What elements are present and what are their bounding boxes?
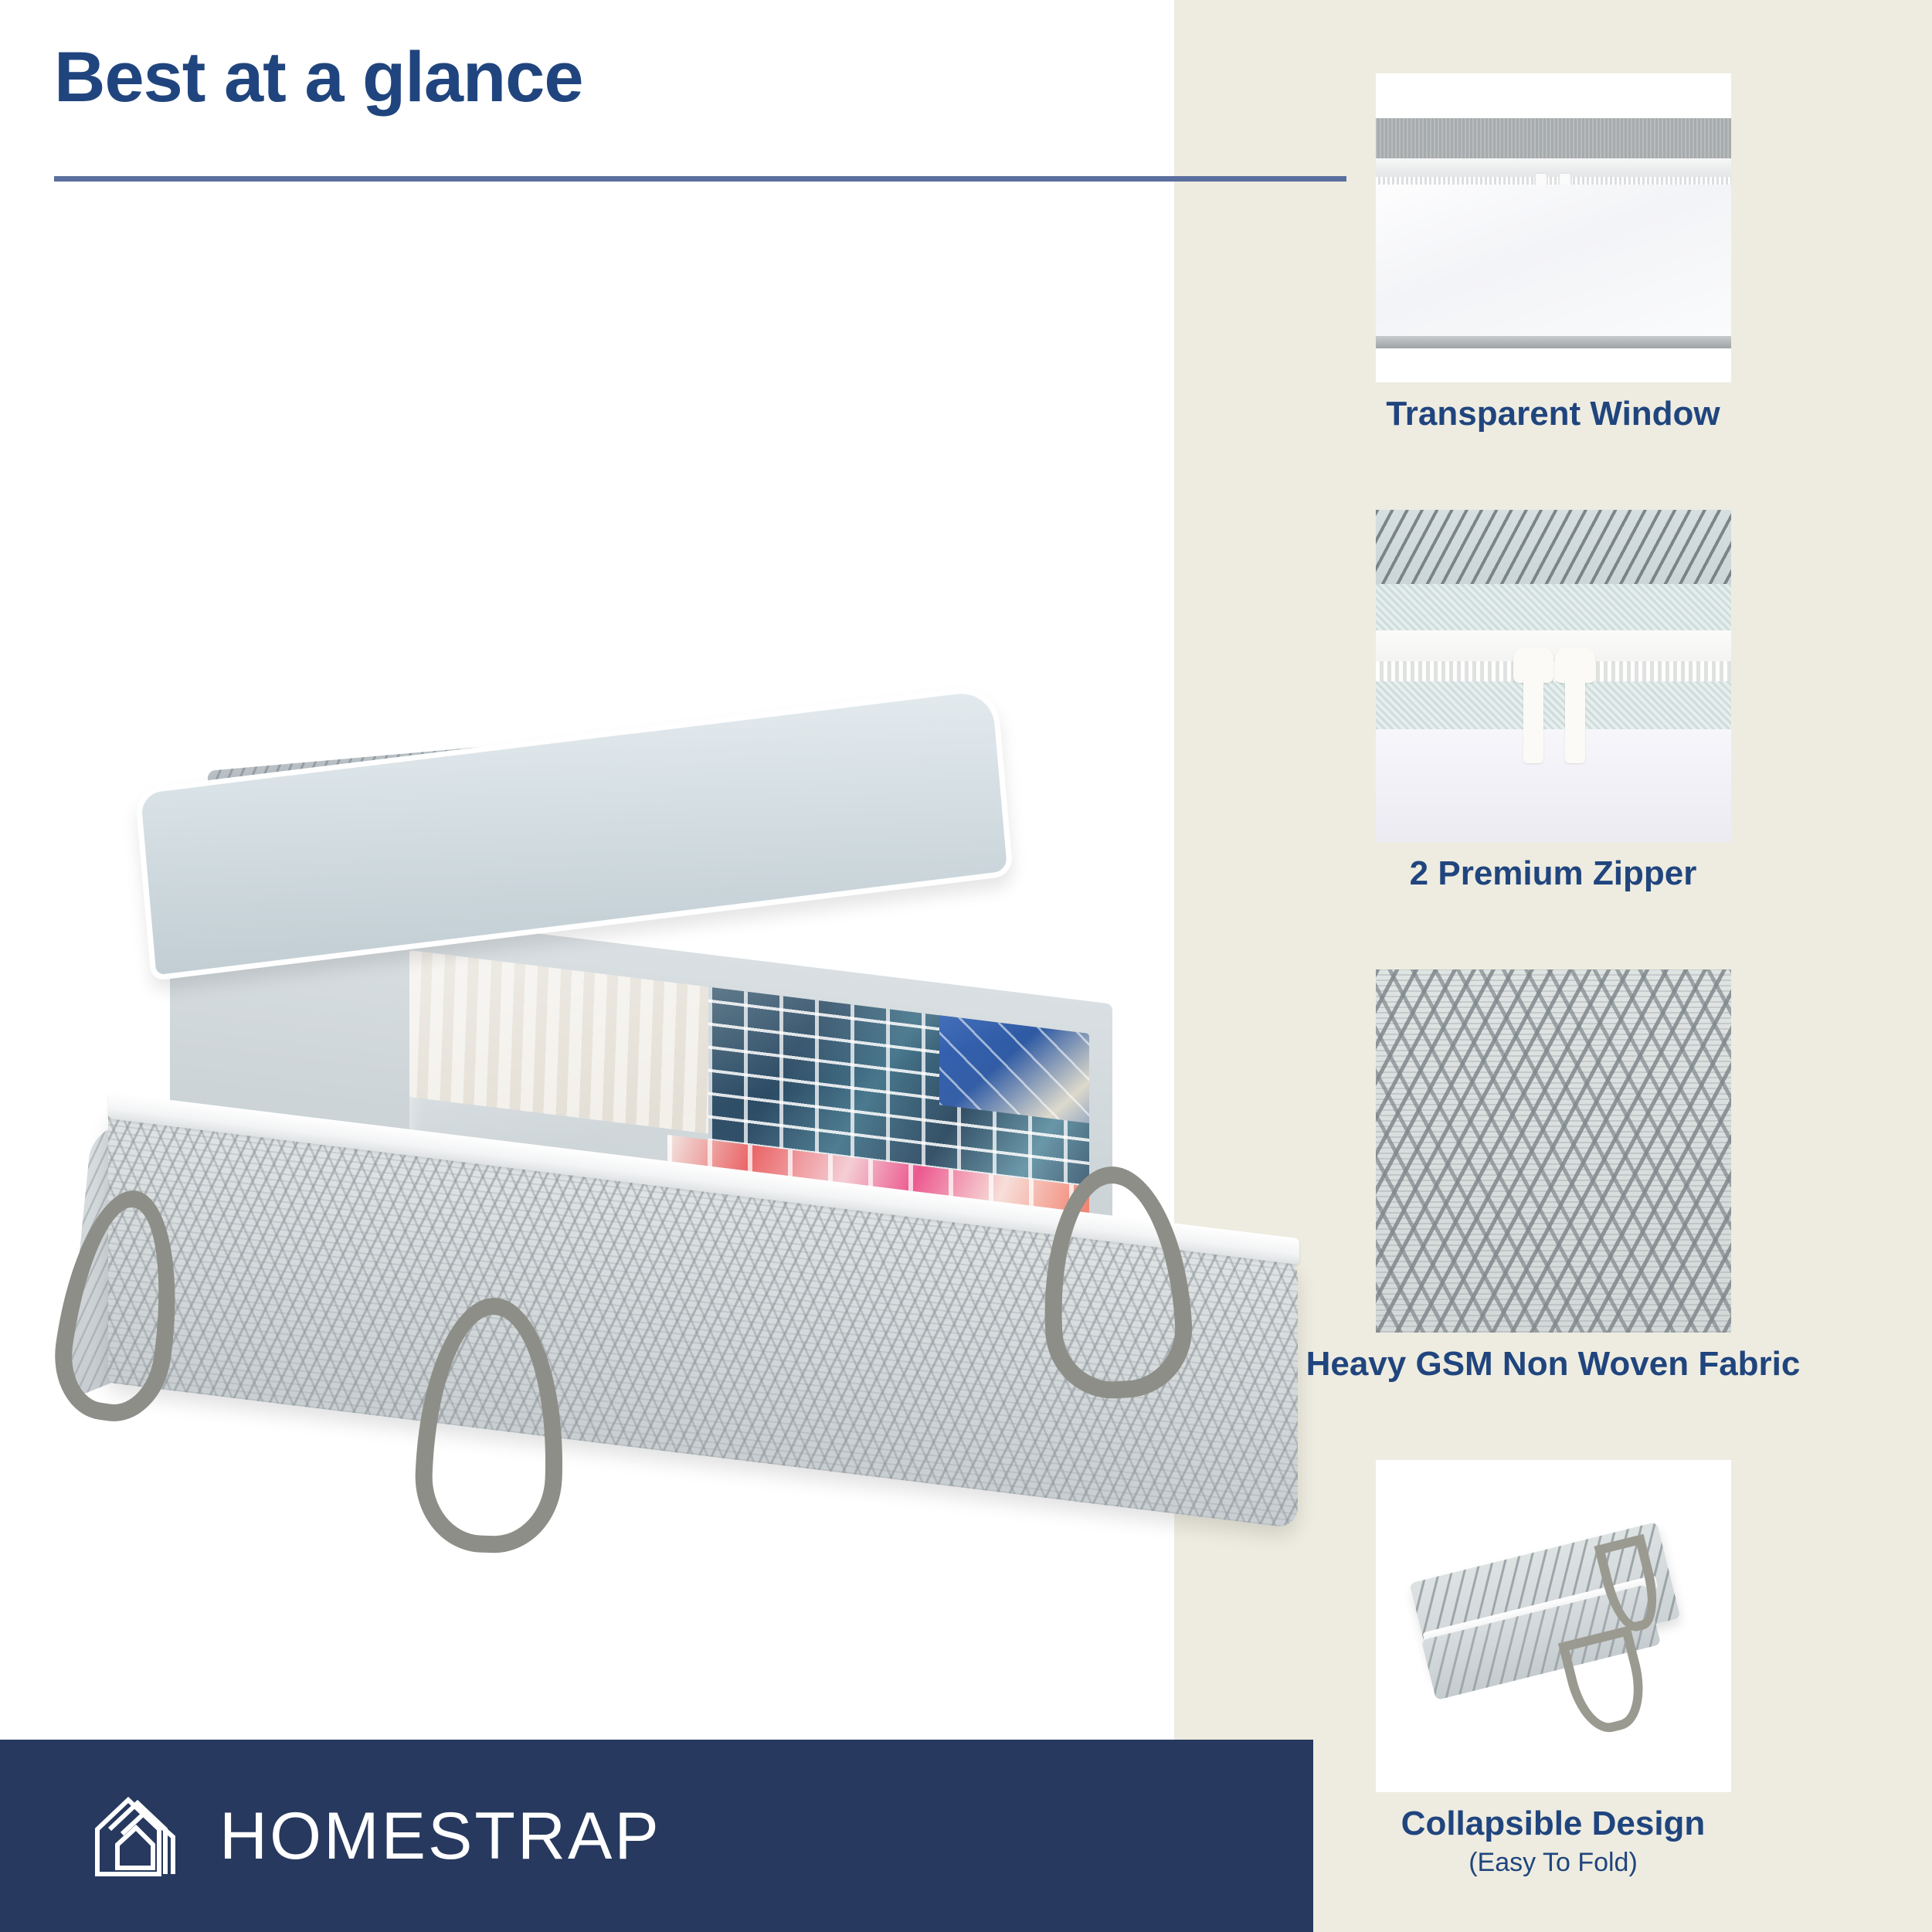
title-underline-rule (54, 176, 1346, 182)
bag-open-lid-flap (134, 684, 1014, 981)
feature-label: Transparent Window (1174, 395, 1932, 433)
zipper-teeth (1376, 661, 1731, 681)
feature-label: Collapsible Design (1174, 1805, 1932, 1843)
premium-zipper-thumbnail (1376, 510, 1731, 842)
feature-item-non-woven-fabric[interactable]: Heavy GSM Non Woven Fabric (1174, 969, 1932, 1384)
zipper-mesh-band-lower (1376, 681, 1731, 729)
collapsible-design-thumbnail (1376, 1460, 1731, 1792)
window-zipper-teeth (1376, 177, 1731, 185)
feature-item-transparent-window[interactable]: Transparent Window (1174, 73, 1932, 433)
infographic-page: Best at a glance (0, 0, 1932, 1932)
homestrap-house-logo-icon (93, 1794, 185, 1879)
window-zipper-tape (1376, 158, 1731, 177)
hero-stage (0, 641, 1360, 1645)
page-title: Best at a glance (54, 39, 1329, 117)
transparent-window-thumbnail (1376, 73, 1731, 382)
features-sidebar: Transparent Window 2 Premium Zipper (1174, 0, 1932, 1932)
window-clear-pane (1376, 185, 1731, 336)
title-block: Best at a glance (54, 39, 1329, 117)
zipper-fabric-pattern-band (1376, 510, 1731, 584)
zipper-pull-tab-right-icon (1565, 677, 1585, 763)
feature-label: Heavy GSM Non Woven Fabric (1174, 1345, 1932, 1384)
footer-brand-bar: HOMESTRAP (0, 1740, 1313, 1932)
zipper-white-panel (1376, 729, 1731, 842)
storage-bag (77, 757, 1329, 1483)
feature-item-premium-zipper[interactable]: 2 Premium Zipper (1174, 510, 1932, 893)
feature-label: 2 Premium Zipper (1174, 854, 1932, 893)
zipper-pull-tab-left-icon (1523, 677, 1543, 763)
feature-sublabel: (Easy To Fold) (1174, 1848, 1932, 1878)
brand-name: HOMESTRAP (219, 1803, 661, 1869)
window-top-mesh-band (1376, 118, 1731, 158)
feature-item-collapsible-design[interactable]: Collapsible Design (Easy To Fold) (1174, 1460, 1932, 1878)
zipper-mesh-band-upper (1376, 584, 1731, 630)
non-woven-fabric-thumbnail (1376, 969, 1731, 1333)
window-bottom-edge (1376, 336, 1731, 348)
fabric-pattern-swatch (1376, 969, 1731, 1333)
hero-product-image (0, 641, 1360, 1645)
